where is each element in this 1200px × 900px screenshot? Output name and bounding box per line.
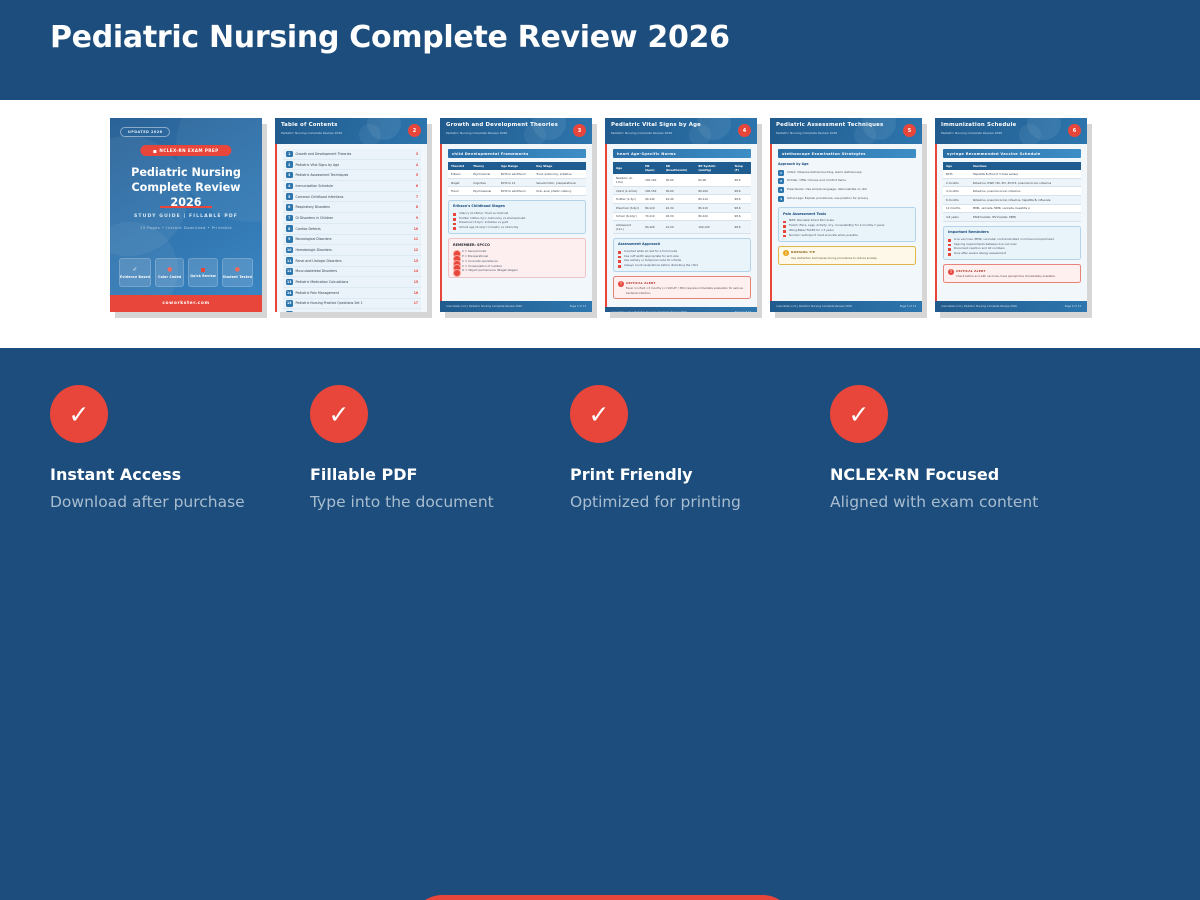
toc-row[interactable]: 2Pediatric Vital Signs by Age4 <box>283 160 421 171</box>
toc-title: GI Disorders in Children <box>296 216 413 220</box>
toc-page: 16 <box>414 291 418 295</box>
thumbnails-row: UPDATED 2026NCLEX-RN EXAM PREPPediatric … <box>110 118 1087 312</box>
feature-3: ✓Print FriendlyOptimized for printing <box>570 385 830 511</box>
toc-row[interactable]: 4Immunization Schedule6 <box>283 181 421 192</box>
toc-title: Hematologic Disorders <box>296 248 411 252</box>
nursing-tip: NURSING TIPUse distraction techniques du… <box>778 246 916 265</box>
dot-icon: ● <box>167 267 172 273</box>
table-cell: Cognitive <box>470 178 498 187</box>
toc-number: 8 <box>286 225 293 232</box>
cover-updated-badge: UPDATED 2026 <box>120 127 170 137</box>
feature-title: Fillable PDF <box>310 465 570 484</box>
page-artwork: Immunization SchedulePediatric Nursing C… <box>935 118 1087 312</box>
info-card-list: Infancy (0-18mo): Trust vs mistrustToddl… <box>453 211 581 230</box>
toc-title: Pediatric Vital Signs by Age <box>296 163 413 167</box>
toc-title: Immunization Schedule <box>296 184 413 188</box>
data-table: TheoristTheoryAge RangeKey StageEriksonP… <box>448 162 586 196</box>
table-header-cell: Key Stage <box>533 162 586 170</box>
table-row: Preschool (3-6yr)80-11022-3480-11098.6 <box>613 203 751 212</box>
page-footer: coworkster.com | Pediatric Nursing Compl… <box>605 307 757 312</box>
feature-description: Type into the document <box>310 493 570 511</box>
cover-title: Pediatric Nursing Complete Review 2026 <box>122 165 250 210</box>
table-cell: DTaP booster, IPV booster, MMR <box>970 213 1081 222</box>
toc-number: 14 <box>286 290 293 297</box>
table-cell: 80-110 <box>642 203 663 212</box>
info-card-item: Always count respirations before disturb… <box>618 263 746 268</box>
toc-number: 4 <box>286 183 293 190</box>
thumbnail-page-2[interactable]: Table of ContentsPediatric Nursing Compl… <box>275 118 427 312</box>
info-card-list: NIPS: Neonatal Infant Pain ScaleFLACC (F… <box>783 218 911 237</box>
cover-artwork: UPDATED 2026NCLEX-RN EXAM PREPPediatric … <box>110 118 262 312</box>
table-cell: Adolescent (12+) <box>613 221 642 234</box>
page-subtitle: Pediatric Nursing Complete Review 2026 <box>776 131 916 135</box>
toc-page: 9 <box>416 216 418 220</box>
toc-row[interactable]: 3Pediatric Assessment Techniques5 <box>283 170 421 181</box>
mnemonic-card-title: REMEMBER: SPCCO <box>453 243 581 247</box>
toc-page: 13 <box>414 259 418 263</box>
table-cell: 80-100 <box>695 186 731 195</box>
toc-number: 6 <box>286 204 293 211</box>
table-cell: 2 months <box>943 178 970 187</box>
thumbnail-page-6[interactable]: Immunization SchedulePediatric Nursing C… <box>935 118 1087 312</box>
toc-number: 13 <box>286 279 293 286</box>
item-number: 1 <box>778 170 784 176</box>
feature-1: ✓Instant AccessDownload after purchase <box>50 385 310 511</box>
page-footer-right: Page 4 of 13 <box>735 311 751 312</box>
feature-title: Print Friendly <box>570 465 830 484</box>
toc-page: 3 <box>416 152 418 156</box>
toc-page: 12 <box>414 248 418 252</box>
info-card-list: Counted while at rest for a full minuteU… <box>618 249 746 268</box>
info-card-title: Assessment Approach <box>618 242 746 246</box>
page-footer: coworkster.com | Pediatric Nursing Compl… <box>770 301 922 312</box>
features-section: ✓Instant AccessDownload after purchase✓F… <box>0 348 1200 900</box>
toc-row[interactable]: 11Renal and Urologic Disorders13 <box>283 256 421 267</box>
info-card-title: Erikson's Childhood Stages <box>453 204 581 208</box>
item-text: School age: Explain procedures, use posi… <box>787 196 868 200</box>
item-number: 2 <box>778 178 784 184</box>
table-cell: Sensorimotor, preoperational <box>533 178 586 187</box>
page-body: heart Age-Specific NormsAgeHR (bpm)RR (b… <box>605 144 757 307</box>
table-cell: 12-20 <box>663 221 696 234</box>
page-number-badge: 6 <box>1068 124 1081 137</box>
feature-description: Aligned with exam content <box>830 493 1090 511</box>
toc-row[interactable]: 12Musculoskeletal Disorders14 <box>283 267 421 278</box>
toc-title: Cardiac Defects <box>296 227 411 231</box>
toc-page: 15 <box>414 280 418 284</box>
numbered-list-item: 4School age: Explain procedures, use pos… <box>778 195 916 204</box>
table-cell: Hepatitis B (first of 3 dose series) <box>970 170 1081 178</box>
table-row: 12 monthsMMR, varicella, MMR, varicella,… <box>943 204 1081 213</box>
table-header-cell: Theory <box>470 162 498 170</box>
table-cell: Birth <box>943 170 970 178</box>
table-cell: Freud <box>448 187 470 196</box>
cover-feature-4: ●Student Tested <box>222 258 253 287</box>
table-cell: 90-140 <box>642 195 663 204</box>
table-row: 4-6 yearsDTaP booster, IPV booster, MMR <box>943 213 1081 222</box>
info-card-title: Pain Assessment Tools <box>783 212 911 216</box>
tip-title: NURSING TIP <box>791 250 911 254</box>
page-footer: coworkster.com | Pediatric Nursing Compl… <box>935 301 1087 312</box>
page-subtitle: Pediatric Nursing Complete Review 2026 <box>941 131 1081 135</box>
toc-page: 11 <box>414 237 418 241</box>
page-header: Immunization SchedulePediatric Nursing C… <box>935 118 1087 144</box>
check-icon: ✓ <box>830 385 888 443</box>
toc-number: 5 <box>286 193 293 200</box>
toc-page: 4 <box>416 163 418 167</box>
table-cell: 60-90 <box>695 174 731 186</box>
item-text: Infant: Observe before touching, warm st… <box>787 170 862 174</box>
table-row: Adolescent (12+)60-10012-20100-12098.6 <box>613 221 751 234</box>
page-subtitle: Pediatric Nursing Complete Review 2026 <box>281 131 421 135</box>
toc-row[interactable]: 8Cardiac Defects10 <box>283 224 421 235</box>
numbered-list-item: 3Preschooler: Use simple language, demon… <box>778 186 916 195</box>
cover-feature-boxes: ✓Evidence Based●Color CodedQuick Review●… <box>119 258 253 287</box>
product-listing-page: Pediatric Nursing Complete Review 2026 U… <box>0 0 1200 900</box>
page-number-badge: 3 <box>573 124 586 137</box>
page-footer-right: Page 6 of 13 <box>1065 305 1081 308</box>
decor-circle-b <box>689 124 711 144</box>
table-cell: 24-40 <box>663 195 696 204</box>
critical-alert: CRITICAL ALERTFever in infant <3 months … <box>613 276 751 299</box>
toc-page: 5 <box>416 173 418 177</box>
toc-number: 16 <box>286 311 293 312</box>
page-body: child Developmental FrameworksTheoristTh… <box>440 144 592 301</box>
table-row: EriksonPsychosocialBirth to adulthoodTru… <box>448 170 586 178</box>
table-cell: Rotavirus, pneumococcal, rotavirus <box>970 187 1081 196</box>
table-cell: 100-150 <box>642 186 663 195</box>
table-cell: Trust, autonomy, initiative <box>533 170 586 178</box>
table-cell: Newborn (0-1mo) <box>613 174 642 186</box>
toc-title: Renal and Urologic Disorders <box>296 259 411 263</box>
cover-feature-label: Student Tested <box>223 275 252 279</box>
table-row: Newborn (0-1mo)100-16030-6060-9098.6 <box>613 174 751 186</box>
info-card: Assessment ApproachCounted while at rest… <box>613 238 751 273</box>
table-cell: 80-120 <box>695 212 731 221</box>
table-header-cell: Age <box>613 162 642 174</box>
table-cell: 30-60 <box>663 174 696 186</box>
table-row: 6 monthsRotavirus, pneumococcal, rotavir… <box>943 195 1081 204</box>
section-bar: syringe Recommended Vaccine Schedule <box>943 149 1081 158</box>
tip-text: Use distraction techniques during proced… <box>791 256 911 260</box>
page-header: Pediatric Nursing Complete Review 2026 <box>0 0 1200 100</box>
page-header: Pediatric Assessment TechniquesPediatric… <box>770 118 922 144</box>
info-card-title: Important Reminders <box>948 230 1076 234</box>
toc-number: 7 <box>286 215 293 222</box>
alert-title: CRITICAL ALERT <box>956 269 1076 273</box>
toc-row[interactable]: 7GI Disorders in Children9 <box>283 213 421 224</box>
table-cell: 60-100 <box>642 221 663 234</box>
table-header-cell: Temp (F) <box>731 162 751 174</box>
toc-row[interactable]: 15Pediatric Nursing Practice Questions S… <box>283 299 421 310</box>
toc-number: 1 <box>286 151 293 158</box>
toc-row[interactable]: 1Growth and Development Theories3 <box>283 149 421 160</box>
toc-number: 10 <box>286 247 293 254</box>
table-row: FreudPsychosexualBirth to adulthoodOral,… <box>448 187 586 196</box>
table-cell: Psychosocial <box>470 170 498 178</box>
decor-circle-b <box>854 124 876 144</box>
table-cell: MMR, varicella, MMR, varicella, hepatiti… <box>970 204 1081 213</box>
decor-circle-b <box>524 124 546 144</box>
toc-page: 6 <box>416 184 418 188</box>
table-cell: Toddler (1-3yr) <box>613 195 642 204</box>
table-header-cell: Vaccines <box>970 162 1081 170</box>
toc-title: Musculoskeletal Disorders <box>296 269 411 273</box>
toc-title: Pediatric Pain Management <box>296 291 411 295</box>
table-cell: 30-60 <box>663 186 696 195</box>
check-icon: ✓ <box>570 385 628 443</box>
table-row: Toddler (1-3yr)90-14024-4080-11098.6 <box>613 195 751 204</box>
section-bar: heart Age-Specific Norms <box>613 149 751 158</box>
page-body: 1Growth and Development Theories32Pediat… <box>275 144 427 312</box>
table-cell: 98.6 <box>731 203 751 212</box>
toc-number: 12 <box>286 268 293 275</box>
table-cell: Oral, anal, phallic, latency <box>533 187 586 196</box>
page-footer-right: Page 5 of 13 <box>900 305 916 308</box>
toc-number: 3 <box>286 172 293 179</box>
cover-meta: 13 Pages • Instant Download • Printable <box>110 225 262 230</box>
table-cell: Preschool (3-6yr) <box>613 203 642 212</box>
table-row: Infant (1-12mo)100-15030-6080-10098.6 <box>613 186 751 195</box>
cover-feature-1: ✓Evidence Based <box>119 258 151 287</box>
toc-page: 7 <box>416 195 418 199</box>
toc-row[interactable]: 16Pediatric Nursing Practice Questions S… <box>283 309 421 312</box>
page-artwork: Table of ContentsPediatric Nursing Compl… <box>275 118 427 312</box>
feature-description: Download after purchase <box>50 493 310 511</box>
toc-page: 10 <box>414 227 418 231</box>
info-card: Important RemindersLive vaccines (MMR, v… <box>943 226 1081 261</box>
page-body: syringe Recommended Vaccine ScheduleAgeV… <box>935 144 1087 301</box>
page-artwork: Pediatric Vital Signs by AgePediatric Nu… <box>605 118 757 312</box>
cover-divider <box>160 206 212 208</box>
thumbnail-page-3[interactable]: Growth and Development TheoriesPediatric… <box>440 118 592 312</box>
toc-number: 9 <box>286 236 293 243</box>
table-cell: 4 months <box>943 187 970 196</box>
data-table: AgeVaccinesBirthHepatitis B (first of 3 … <box>943 162 1081 222</box>
toc-row[interactable]: 13Pediatric Medication Calculations15 <box>283 277 421 288</box>
toc-page: 14 <box>414 269 418 273</box>
item-number: 4 <box>778 196 784 202</box>
table-row: BirthHepatitis B (first of 3 dose series… <box>943 170 1081 178</box>
toc-title: Growth and Development Theories <box>296 152 413 156</box>
item-number: 3 <box>778 187 784 193</box>
table-cell: 18-30 <box>663 212 696 221</box>
cover-feature-3: Quick Review <box>188 258 217 287</box>
page-number-badge: 5 <box>903 124 916 137</box>
info-card: Pain Assessment ToolsNIPS: Neonatal Infa… <box>778 207 916 242</box>
page-subtitle: Pediatric Nursing Complete Review 2026 <box>611 131 751 135</box>
toc-title: Pediatric Nursing Practice Questions Set… <box>296 301 411 305</box>
cover-feature-label: Evidence Based <box>120 275 150 279</box>
page-footer-left: coworkster.com | Pediatric Nursing Compl… <box>611 311 687 312</box>
toc-title: Respiratory Disorders <box>296 205 413 209</box>
table-cell: 98.6 <box>731 221 751 234</box>
section-bar: child Developmental Frameworks <box>448 149 586 158</box>
data-table: AgeHR (bpm)RR (breaths/min)BP Systolic (… <box>613 162 751 234</box>
table-header-cell: BP Systolic (mmHg) <box>695 162 731 174</box>
list-label: Approach by Age <box>778 162 916 166</box>
page-footer: coworkster.com | Pediatric Nursing Compl… <box>440 301 592 312</box>
mnemonic-item: O = Object permanence (Piaget stages) <box>453 268 581 273</box>
toc-number: 11 <box>286 257 293 264</box>
mnemonic-card: REMEMBER: SPCCOS = SensorimotorP = Preop… <box>448 238 586 277</box>
alert-text: Fever in infant <3 months (>=100.4F / 38… <box>626 286 746 295</box>
page-body: stethoscope Examination StrategiesApproa… <box>770 144 922 301</box>
cover-feature-label: Quick Review <box>190 274 216 278</box>
table-cell: 80-110 <box>695 195 731 204</box>
page-artwork: Pediatric Assessment TechniquesPediatric… <box>770 118 922 312</box>
info-card: Erikson's Childhood StagesInfancy (0-18m… <box>448 200 586 235</box>
table-cell: 100-120 <box>695 221 731 234</box>
table-cell: 6 months <box>943 195 970 204</box>
cover-footer-url: coworkster.com <box>110 295 262 312</box>
check-icon: ✓ <box>50 385 108 443</box>
page-title: Pediatric Nursing Complete Review 2026 <box>50 20 730 55</box>
table-cell: 22-34 <box>663 203 696 212</box>
table-cell: Piaget <box>448 178 470 187</box>
toc-page: 8 <box>416 205 418 209</box>
info-card-item: Numeric self-report most accurate when p… <box>783 233 911 238</box>
cover-feature-label: Color Coded <box>158 275 181 279</box>
feature-4: ✓NCLEX-RN FocusedAligned with exam conte… <box>830 385 1090 511</box>
page-subtitle: Pediatric Nursing Complete Review 2026 <box>446 131 586 135</box>
page-footer-left: coworkster.com | Pediatric Nursing Compl… <box>446 305 522 308</box>
table-cell: Birth to adulthood <box>498 187 533 196</box>
table-header-cell: Theorist <box>448 162 470 170</box>
check-icon: ✓ <box>310 385 368 443</box>
toc-row[interactable]: 6Respiratory Disorders8 <box>283 202 421 213</box>
alert-title: CRITICAL ALERT <box>626 281 746 285</box>
decor-circle-b <box>359 124 381 144</box>
cover-exam-badge: NCLEX-RN EXAM PREP <box>140 145 231 156</box>
critical-alert: CRITICAL ALERTCheck before and with vacc… <box>943 264 1081 283</box>
table-cell: 100-160 <box>642 174 663 186</box>
feature-title: NCLEX-RN Focused <box>830 465 1090 484</box>
page-number-badge: 2 <box>408 124 421 137</box>
numbered-list-item: 1Infant: Observe before touching, warm s… <box>778 168 916 177</box>
toc-page: 17 <box>414 301 418 305</box>
table-cell: 70-110 <box>642 212 663 221</box>
preview-thumbnail-strip: UPDATED 2026NCLEX-RN EXAM PREPPediatric … <box>0 100 1200 348</box>
square-icon <box>201 268 205 272</box>
features-row: ✓Instant AccessDownload after purchase✓F… <box>50 385 1150 511</box>
table-header-cell: HR (bpm) <box>642 162 663 174</box>
table-row: PiagetCognitiveBirth to 12Sensorimotor, … <box>448 178 586 187</box>
table-header-cell: RR (breaths/min) <box>663 162 696 174</box>
cover-feature-2: ●Color Coded <box>155 258 184 287</box>
square-icon <box>153 150 156 153</box>
page-header: Growth and Development TheoriesPediatric… <box>440 118 592 144</box>
table-header-cell: Age Range <box>498 162 533 170</box>
table-cell: 98.6 <box>731 186 751 195</box>
thumbnail-page-4[interactable]: Pediatric Vital Signs by AgePediatric Nu… <box>605 118 757 312</box>
table-cell: 12 months <box>943 204 970 213</box>
item-text: Toddler: Offer choices and comfort items <box>787 178 846 182</box>
page-footer-left: coworkster.com | Pediatric Nursing Compl… <box>776 305 852 308</box>
info-card-item: Give after severe allergy assessment <box>948 251 1076 256</box>
table-cell: Birth to adulthood <box>498 170 533 178</box>
table-cell: 98.6 <box>731 195 751 204</box>
table-row: School (6-12yr)70-11018-3080-12098.6 <box>613 212 751 221</box>
page-header: Pediatric Vital Signs by AgePediatric Nu… <box>605 118 757 144</box>
toc-number: 2 <box>286 161 293 168</box>
dot-icon: ● <box>235 267 240 273</box>
section-bar: stethoscope Examination Strategies <box>778 149 916 158</box>
table-cell: 98.6 <box>731 174 751 186</box>
page-number-badge: 4 <box>738 124 751 137</box>
toc-row[interactable]: 10Hematologic Disorders12 <box>283 245 421 256</box>
page-footer-left: coworkster.com | Pediatric Nursing Compl… <box>941 305 1017 308</box>
toc-title: Neurological Disorders <box>296 237 411 241</box>
table-cell: 98.6 <box>731 212 751 221</box>
page-header: Table of ContentsPediatric Nursing Compl… <box>275 118 427 144</box>
cover-subtitle: STUDY GUIDE | FILLABLE PDF <box>110 214 262 219</box>
alert-text: Check before and with vaccines, have epi… <box>956 274 1076 278</box>
feature-2: ✓Fillable PDFType into the document <box>310 385 570 511</box>
table-header-cell: Age <box>943 162 970 170</box>
table-row: 2 monthsRotavirus, DTaP, Hib, IPV, PCV13… <box>943 178 1081 187</box>
toc-title: Pediatric Assessment Techniques <box>296 173 413 177</box>
toc-title: Common Childhood Infections <box>296 195 413 199</box>
toc-list: 1Growth and Development Theories32Pediat… <box>283 149 421 312</box>
table-cell: Rotavirus, pneumococcal, rotavirus, hepa… <box>970 195 1081 204</box>
decor-circle-b <box>1019 124 1041 144</box>
table-cell: School (6-12yr) <box>613 212 642 221</box>
numbered-list: 1Infant: Observe before touching, warm s… <box>778 168 916 203</box>
info-card-item: School age (6-12yr): Industry vs inferio… <box>453 225 581 230</box>
table-cell: Infant (1-12mo) <box>613 186 642 195</box>
mnemonic-list: S = SensorimotorP = PreoperationalC = Co… <box>453 249 581 273</box>
page-footer-right: Page 3 of 13 <box>570 305 586 308</box>
feature-title: Instant Access <box>50 465 310 484</box>
table-cell: Erikson <box>448 170 470 178</box>
feature-description: Optimized for printing <box>570 493 830 511</box>
numbered-list-item: 2Toddler: Offer choices and comfort item… <box>778 177 916 186</box>
table-cell: Rotavirus, DTaP, Hib, IPV, PCV13, pneumo… <box>970 178 1081 187</box>
table-cell: 4-6 years <box>943 213 970 222</box>
thumbnail-page-5[interactable]: Pediatric Assessment TechniquesPediatric… <box>770 118 922 312</box>
table-row: 4 monthsRotavirus, pneumococcal, rotavir… <box>943 187 1081 196</box>
toc-row[interactable]: 9Neurological Disorders11 <box>283 235 421 246</box>
table-cell: 80-110 <box>695 203 731 212</box>
table-cell: Psychosexual <box>470 187 498 196</box>
toc-row[interactable]: 14Pediatric Pain Management16 <box>283 288 421 299</box>
toc-title: Pediatric Medication Calculations <box>296 280 411 284</box>
toc-row[interactable]: 5Common Childhood Infections7 <box>283 192 421 203</box>
table-cell: Birth to 12 <box>498 178 533 187</box>
thumbnail-cover-page[interactable]: UPDATED 2026NCLEX-RN EXAM PREPPediatric … <box>110 118 262 312</box>
item-text: Preschooler: Use simple language, demons… <box>787 187 867 191</box>
instant-download-button[interactable]: INSTANT DOWNLOAD <box>410 895 795 900</box>
info-card-list: Live vaccines (MMR, varicella) contraind… <box>948 237 1076 256</box>
toc-number: 15 <box>286 300 293 307</box>
page-artwork: Growth and Development TheoriesPediatric… <box>440 118 592 312</box>
check-icon: ✓ <box>133 267 138 273</box>
